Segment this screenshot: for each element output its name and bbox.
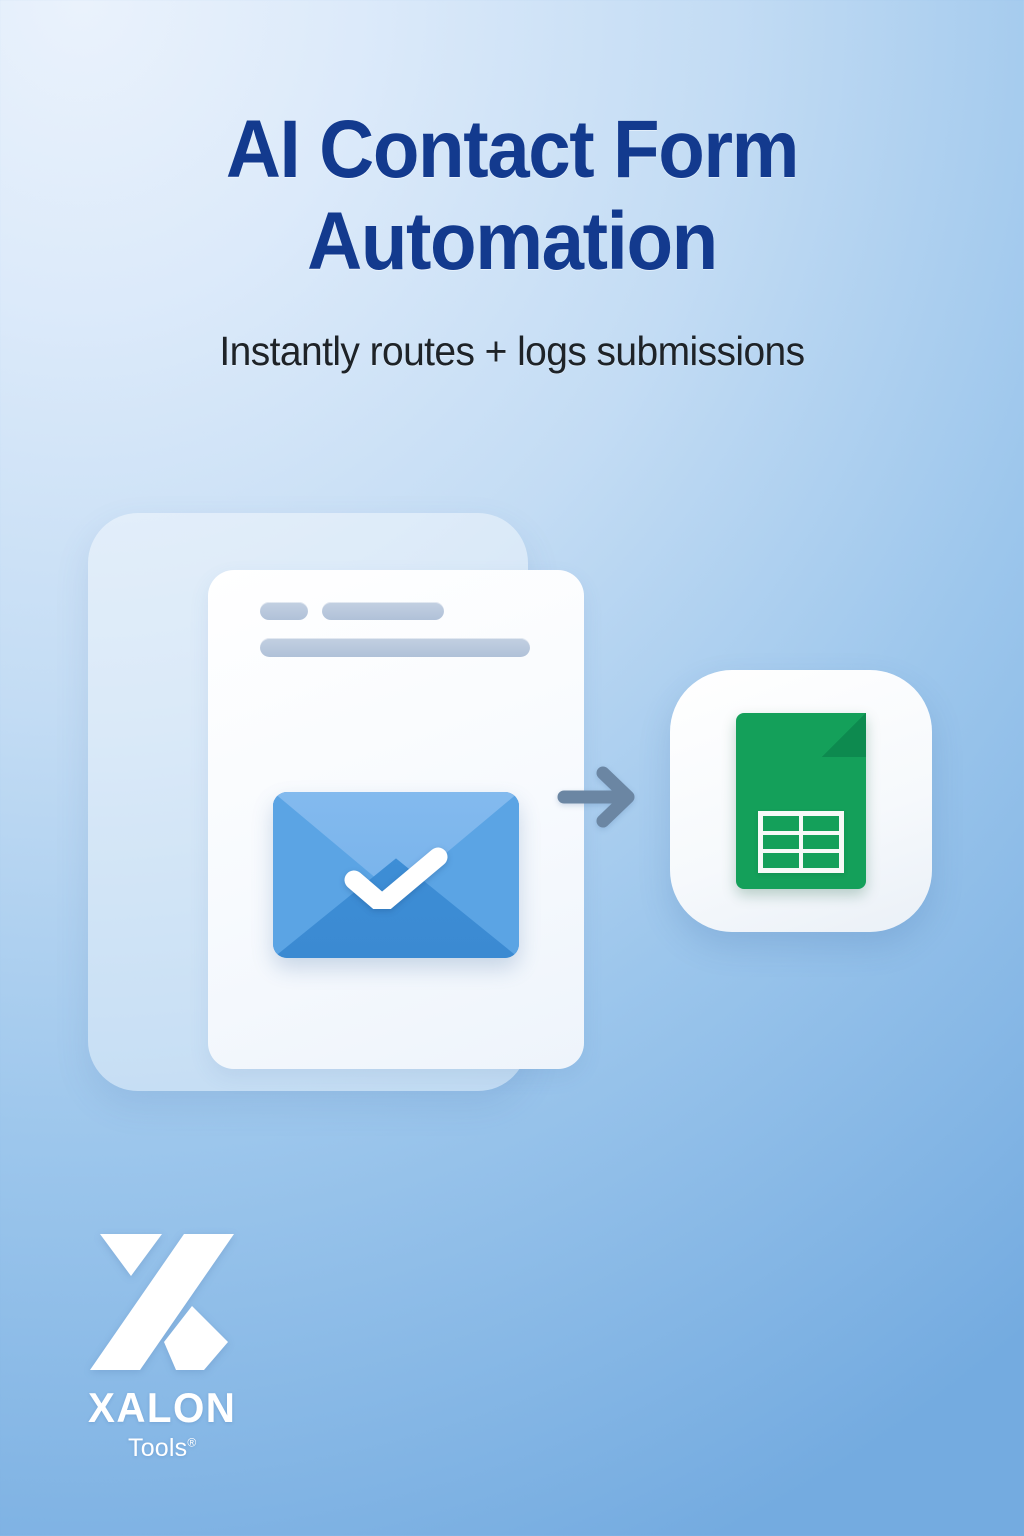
title-line-2: Automation xyxy=(36,196,988,288)
brand-name: XALON xyxy=(88,1384,330,1432)
brand-tagline-text: Tools xyxy=(128,1434,187,1462)
registered-trademark-symbol: ® xyxy=(187,1436,196,1450)
sheets-grid xyxy=(758,811,844,873)
sheets-cell xyxy=(763,853,799,868)
illustration-stage xyxy=(0,500,1024,1100)
sheets-cell xyxy=(803,835,839,850)
checkmark-icon xyxy=(344,847,448,909)
contact-form-card-inner xyxy=(208,570,584,1069)
page-title: AI Contact Form Automation xyxy=(36,104,988,288)
placeholder-bar-short xyxy=(260,602,308,620)
placeholder-row-1 xyxy=(260,602,444,620)
title-line-1: AI Contact Form xyxy=(36,104,988,196)
sheets-document-body xyxy=(736,713,866,889)
envelope-icon xyxy=(273,792,519,958)
brand-tagline: Tools® xyxy=(128,1434,340,1463)
sheets-cell xyxy=(803,853,839,868)
page-subtitle: Instantly routes + logs submissions xyxy=(26,328,999,375)
google-sheets-tile xyxy=(670,670,932,932)
placeholder-row-2 xyxy=(260,638,530,657)
header: AI Contact Form Automation Instantly rou… xyxy=(0,0,1024,375)
contact-form-card-outer xyxy=(88,513,528,1091)
placeholder-bar-long xyxy=(260,638,530,657)
arrow-right-icon xyxy=(556,762,646,832)
xalon-x-mark-icon xyxy=(88,1232,236,1372)
sheets-cell xyxy=(803,816,839,831)
placeholder-bar-medium xyxy=(322,602,444,620)
sheets-cell xyxy=(763,835,799,850)
sheets-cell xyxy=(763,816,799,831)
brand-logo: XALON Tools® xyxy=(80,1232,340,1463)
